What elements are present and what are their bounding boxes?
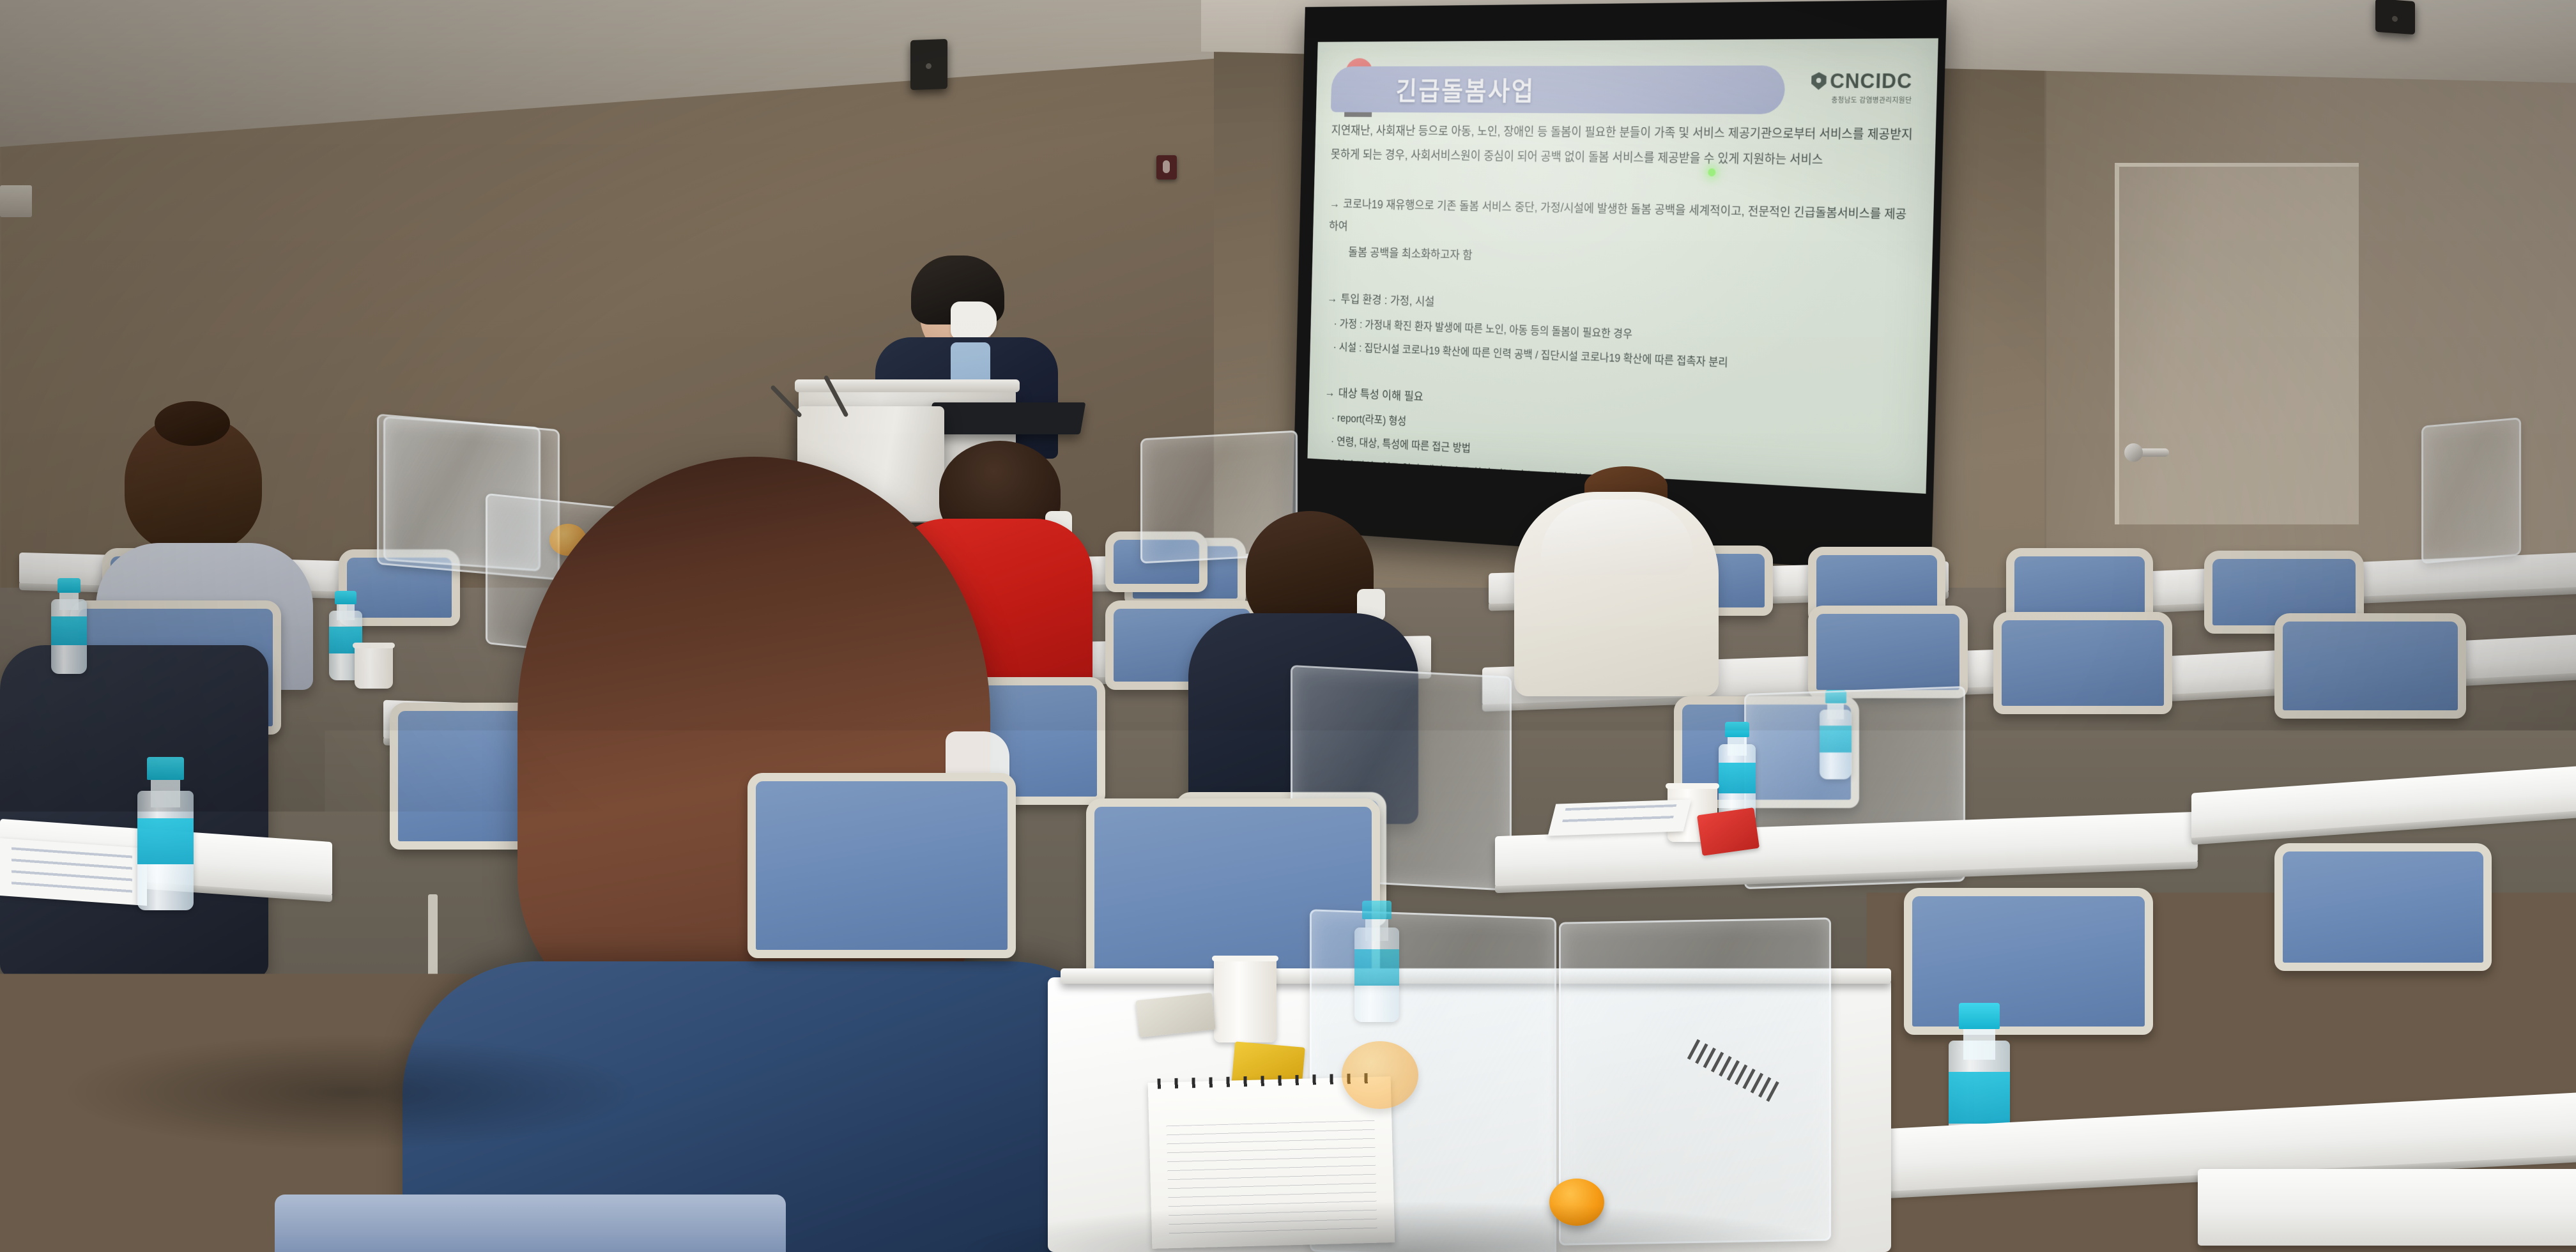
- snack-pack[interactable]: [1697, 807, 1759, 856]
- organization-logo: CNCIDC 충청남도 감염병관리지원단: [1811, 69, 1913, 105]
- slide-body: 지연재난, 사회재난 등으로 아동, 노인, 장애인 등 돌봄이 필요한 분들이…: [1322, 119, 1915, 493]
- slide-section: →코로나19 재유행으로 기존 돌봄 서비스 중단, 가정/시설에 발생한 돌봄…: [1328, 193, 1913, 279]
- paper-cup[interactable]: [1214, 958, 1276, 1042]
- chair[interactable]: [1993, 612, 2172, 714]
- laptop: [927, 402, 1086, 434]
- water-bottle[interactable]: [51, 578, 87, 674]
- acrylic-divider: [2421, 417, 2521, 564]
- handout[interactable]: [1548, 799, 1692, 836]
- arrow-icon: →: [1329, 193, 1343, 215]
- paper-cup[interactable]: [355, 645, 393, 689]
- water-bottle[interactable]: [1354, 901, 1399, 1022]
- chair[interactable]: [1904, 888, 2153, 1035]
- attendee-white-puffer: [1508, 466, 1725, 696]
- attendee-hair-bun: [155, 401, 230, 446]
- slide-section: →투입 환경 : 가정, 시설 · 가정 : 가정내 확진 환자 발생에 따른 …: [1326, 287, 1910, 381]
- exit-door[interactable]: [2115, 163, 2359, 524]
- draped-jacket: [0, 645, 268, 977]
- chair[interactable]: [1808, 606, 1968, 698]
- slide-title: 긴급돌봄사업: [1395, 71, 1535, 109]
- arrow-icon: →: [1327, 287, 1341, 310]
- speaker-icon: [910, 39, 947, 90]
- seminar-room-photo: 긴급돌봄사업 CNCIDC 충청남도 감염병관리지원단 지연재난, 사회재난 등…: [0, 0, 2576, 1252]
- fire-alarm-icon: [1156, 155, 1177, 179]
- desk: [2198, 1169, 2576, 1246]
- air-vent-icon: [0, 185, 32, 217]
- chair[interactable]: [275, 1195, 786, 1252]
- tangerine[interactable]: [1342, 1041, 1418, 1109]
- arrow-icon: →: [1324, 382, 1338, 405]
- chair[interactable]: [2274, 843, 2492, 971]
- logo-name: CNCIDC: [1830, 69, 1913, 93]
- chair[interactable]: [747, 773, 1016, 958]
- attendee-hood: [1541, 500, 1693, 575]
- handout[interactable]: [0, 838, 147, 906]
- logo-subtitle: 충청남도 감염병관리지원단: [1811, 95, 1912, 105]
- presenter-mask: [951, 302, 997, 340]
- presentation-slide: 긴급돌봄사업 CNCIDC 충청남도 감염병관리지원단 지연재난, 사회재난 등…: [1307, 38, 1938, 494]
- speaker-icon: [2375, 0, 2415, 34]
- slide-lead-paragraph: 지연재난, 사회재난 등으로 아동, 노인, 장애인 등 돌봄이 필요한 분들이…: [1330, 119, 1915, 174]
- shield-icon: [1811, 72, 1827, 90]
- chair[interactable]: [2274, 613, 2466, 719]
- water-bottle[interactable]: [137, 757, 194, 910]
- door-handle-icon[interactable]: [2131, 448, 2169, 457]
- floor-shadow: [64, 1035, 639, 1150]
